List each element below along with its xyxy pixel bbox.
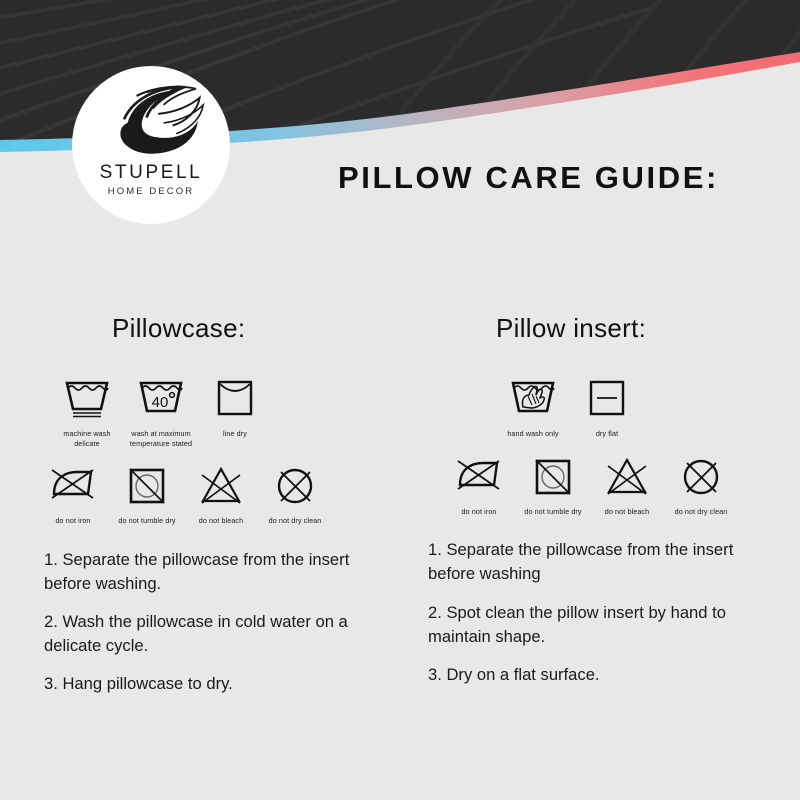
care-symbol-line-dry: line dry — [198, 375, 272, 448]
step-item: 2. Spot clean the pillow insert by hand … — [428, 601, 776, 649]
pillowcase-icon-row-1: machine washdelicate 40 wash at maximumt… — [50, 375, 396, 448]
care-symbol-do-not-dry-clean: do not dry clean — [258, 462, 332, 526]
hand-wash-only-icon — [507, 375, 559, 421]
care-symbol-label: hand wash only — [507, 429, 558, 439]
brand-name: STUPELL — [100, 163, 203, 182]
do-not-tumble-dry-icon — [121, 462, 173, 508]
care-symbol-wash-40: 40 wash at maximumtemperature stated — [124, 375, 198, 448]
care-symbol-label: machine washdelicate — [63, 429, 110, 448]
machine-wash-delicate-icon — [61, 375, 113, 421]
do-not-dry-clean-icon — [269, 462, 321, 508]
brand-logo-badge: STUPELL HOME DECOR — [72, 66, 230, 224]
pillow-care-guide-page: STUPELL HOME DECOR PILLOW CARE GUIDE: Pi… — [0, 0, 800, 800]
care-symbol-label: wash at maximumtemperature stated — [130, 429, 192, 448]
step-item: 2. Wash the pillowcase in cold water on … — [44, 610, 396, 658]
care-symbol-do-not-bleach: do not bleach — [184, 462, 258, 526]
stupell-swoosh-logo-icon — [97, 82, 205, 162]
do-not-tumble-dry-icon — [527, 453, 579, 499]
pillowcase-icon-grid: machine washdelicate 40 wash at maximumt… — [36, 375, 396, 526]
do-not-iron-icon — [453, 453, 505, 499]
column-title-pillow-insert: Pillow insert: — [420, 315, 790, 341]
care-symbol-label: do not iron — [461, 507, 496, 517]
do-not-dry-clean-icon — [675, 453, 727, 499]
care-symbol-label: do not iron — [55, 516, 90, 526]
care-symbol-label: dry flat — [596, 429, 618, 439]
page-title: PILLOW CARE GUIDE: — [338, 160, 719, 196]
step-item: 1. Separate the pillowcase from the inse… — [44, 548, 396, 596]
pillow-insert-icon-row-2: do not iron do not tumble dry — [442, 453, 790, 517]
care-symbol-label: do not dry clean — [269, 516, 322, 526]
column-pillow-insert: Pillow insert: hand wash only — [420, 315, 790, 701]
care-symbol-label: line dry — [223, 429, 247, 439]
care-symbol-do-not-tumble-dry: do not tumble dry — [516, 453, 590, 517]
care-symbol-label: do not bleach — [199, 516, 243, 526]
care-symbol-machine-wash-delicate: machine washdelicate — [50, 375, 124, 448]
step-item: 3. Hang pillowcase to dry. — [44, 672, 396, 696]
care-symbol-label: do not dry clean — [675, 507, 728, 517]
do-not-iron-icon — [47, 462, 99, 508]
step-item: 3. Dry on a flat surface. — [428, 663, 776, 687]
wash-40-degrees-icon: 40 — [135, 375, 187, 421]
care-symbol-hand-wash-only: hand wash only — [496, 375, 570, 439]
pillowcase-steps: 1. Separate the pillowcase from the inse… — [36, 548, 396, 696]
pillow-insert-icon-grid: hand wash only dry flat — [420, 375, 790, 516]
dry-flat-icon — [581, 375, 633, 421]
do-not-bleach-icon — [601, 453, 653, 499]
care-symbol-dry-flat: dry flat — [570, 375, 644, 439]
care-symbol-label: do not tumble dry — [118, 516, 175, 526]
care-symbol-label: do not bleach — [605, 507, 649, 517]
care-symbol-do-not-iron: do not iron — [36, 462, 110, 526]
do-not-bleach-icon — [195, 462, 247, 508]
column-pillowcase: Pillowcase: machine washdelicate — [36, 315, 396, 710]
brand-tagline: HOME DECOR — [108, 187, 194, 197]
wash-temperature-value: 40 — [152, 394, 169, 411]
care-symbol-do-not-tumble-dry: do not tumble dry — [110, 462, 184, 526]
line-dry-icon — [209, 375, 261, 421]
column-title-pillowcase: Pillowcase: — [36, 315, 396, 341]
care-symbol-do-not-bleach: do not bleach — [590, 453, 664, 517]
step-item: 1. Separate the pillowcase from the inse… — [428, 538, 776, 586]
pillowcase-icon-row-2: do not iron do not tumble dry — [36, 462, 396, 526]
care-symbol-do-not-iron: do not iron — [442, 453, 516, 517]
pillow-insert-icon-row-1: hand wash only dry flat — [496, 375, 790, 439]
care-symbol-do-not-dry-clean: do not dry clean — [664, 453, 738, 517]
pillow-insert-steps: 1. Separate the pillowcase from the inse… — [420, 538, 776, 686]
care-symbol-label: do not tumble dry — [524, 507, 581, 517]
